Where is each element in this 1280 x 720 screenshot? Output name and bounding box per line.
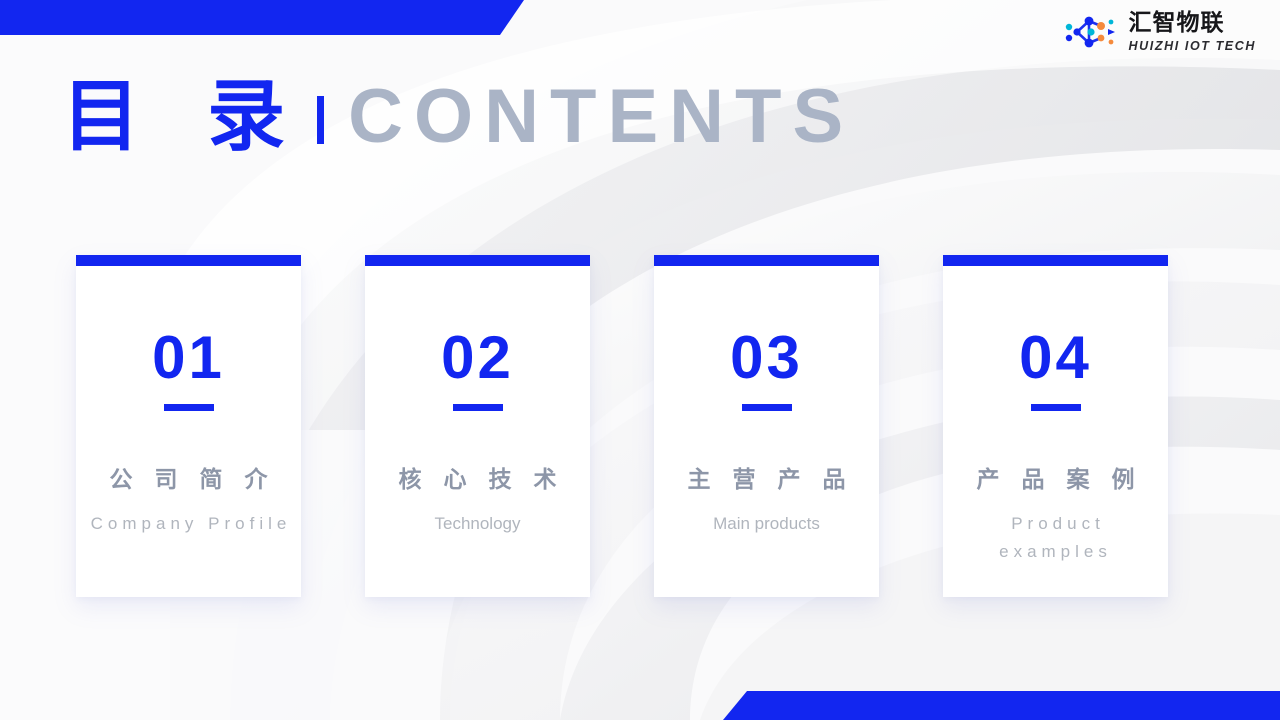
- page-title-en: CONTENTS: [348, 79, 854, 155]
- card-subtitle: Technology: [428, 510, 526, 539]
- top-left-accent-bar: [0, 0, 524, 35]
- contents-card-04[interactable]: 04 产 品 案 例 Product examples: [943, 255, 1168, 597]
- card-number: 01: [152, 328, 225, 388]
- card-top-accent-bar: [365, 255, 590, 266]
- card-underline-rule: [453, 404, 503, 411]
- page-title: 目 录 CONTENTS: [62, 78, 854, 156]
- card-top-accent-bar: [76, 255, 301, 266]
- logo-cn-name: 汇智物联: [1129, 12, 1256, 35]
- logo-text-block: 汇智物联 HUIZHI IOT TECH: [1129, 12, 1256, 53]
- card-number: 03: [730, 328, 803, 388]
- card-title: 公 司 简 介: [102, 467, 274, 495]
- card-subtitle: Company Profile: [80, 510, 298, 539]
- card-top-accent-bar: [654, 255, 879, 266]
- card-underline-rule: [1031, 404, 1081, 411]
- logo-en-name: HUIZHI IOT TECH: [1129, 40, 1256, 53]
- card-number: 02: [441, 328, 514, 388]
- contents-card-01[interactable]: 01 公 司 简 介 Company Profile: [76, 255, 301, 597]
- card-top-accent-bar: [943, 255, 1168, 266]
- card-subtitle: Product examples: [943, 510, 1168, 568]
- card-title: 核 心 技 术: [391, 467, 563, 495]
- bottom-right-accent-bar: [723, 691, 1280, 720]
- molecule-network-icon: [1065, 12, 1121, 52]
- card-title: 产 品 案 例: [969, 467, 1141, 495]
- page-title-cn: 目 录: [62, 78, 305, 156]
- card-underline-rule: [742, 404, 792, 411]
- contents-card-list: 01 公 司 简 介 Company Profile 02 核 心 技 术 Te…: [76, 255, 1172, 597]
- card-underline-rule: [164, 404, 214, 411]
- contents-slide: 汇智物联 HUIZHI IOT TECH 目 录 CONTENTS 01 公 司…: [0, 0, 1280, 720]
- card-subtitle: Main products: [707, 510, 826, 539]
- title-separator: [317, 96, 324, 144]
- contents-card-02[interactable]: 02 核 心 技 术 Technology: [365, 255, 590, 597]
- card-title: 主 营 产 品: [680, 467, 852, 495]
- contents-card-03[interactable]: 03 主 营 产 品 Main products: [654, 255, 879, 597]
- card-number: 04: [1019, 328, 1092, 388]
- company-logo: 汇智物联 HUIZHI IOT TECH: [1065, 12, 1256, 53]
